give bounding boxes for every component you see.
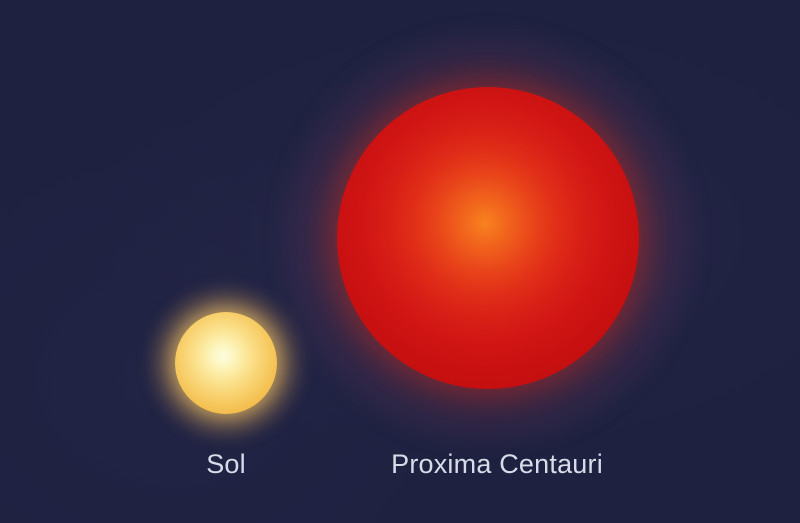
star-comparison-figure: Sol Proxima Centauri xyxy=(0,0,800,523)
proxima-centauri-disc xyxy=(337,87,639,389)
star-label-sol: Sol xyxy=(126,451,326,478)
sol-disc xyxy=(175,312,277,414)
star-label-proxima-centauri: Proxima Centauri xyxy=(347,451,647,478)
